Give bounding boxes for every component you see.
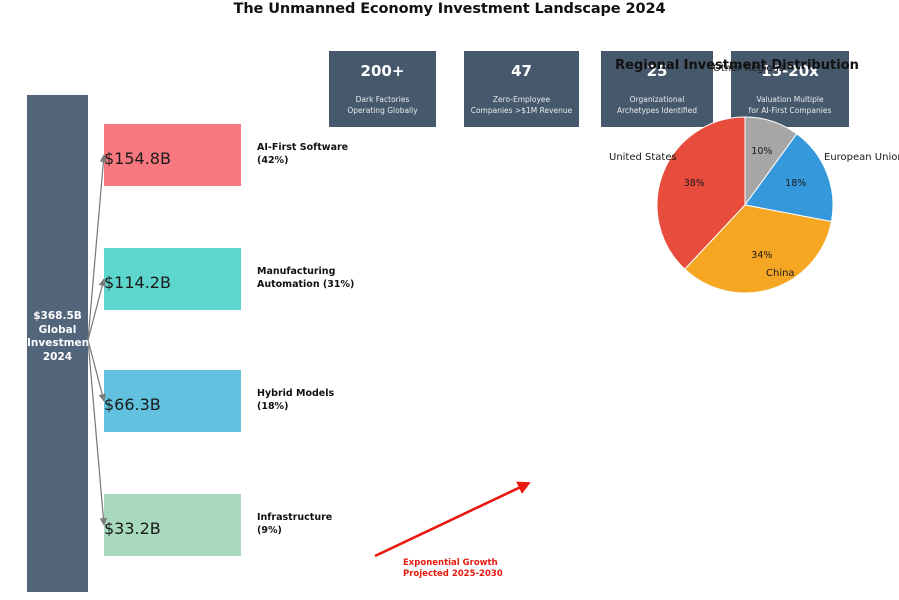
segment-percentage: (9%) <box>257 525 367 538</box>
segment-category-label: Infrastructure(9%) <box>257 512 367 537</box>
segment-value-label: $66.3B <box>104 395 161 414</box>
stat-card-caption: OrganizationalArchetypes Identified <box>601 95 713 116</box>
connector-arrow <box>88 340 104 525</box>
stat-card-caption-line-1: Dark Factories <box>329 95 436 106</box>
connector-arrow <box>88 279 104 340</box>
stat-card: 47Zero-EmployeeCompanies >$1M Revenue <box>464 51 579 127</box>
segment-percentage: (42%) <box>257 155 367 168</box>
stat-card-caption: Zero-EmployeeCompanies >$1M Revenue <box>464 95 579 116</box>
stat-card-caption: Valuation Multiplefor AI-First Companies <box>731 95 849 116</box>
growth-line-1: Exponential Growth <box>403 558 503 569</box>
segment-category-label: Hybrid Models(18%) <box>257 388 367 413</box>
segment-category-label: AI-First Software(42%) <box>257 142 367 167</box>
segment-category-name: Hybrid Models <box>257 388 367 401</box>
stat-card-caption: Dark FactoriesOperating Globally <box>329 95 436 116</box>
growth-arrow-line <box>375 484 527 556</box>
stat-card-caption-line-2: Companies >$1M Revenue <box>464 106 579 117</box>
stat-card: 200+Dark FactoriesOperating Globally <box>329 51 436 127</box>
segment-value-label: $114.2B <box>104 273 171 292</box>
total-value: $368.5B <box>27 310 88 324</box>
total-investment-label: $368.5B Global Investment 2024 <box>27 310 88 364</box>
stat-card-caption-line-1: Zero-Employee <box>464 95 579 106</box>
pie-svg <box>655 115 835 295</box>
segment-category-label: ManufacturingAutomation (31%) <box>257 266 367 291</box>
stat-card-number: 200+ <box>329 62 436 80</box>
stat-card-caption-line-2: Operating Globally <box>329 106 436 117</box>
growth-line-2: Projected 2025-2030 <box>403 569 503 580</box>
segment-value-label: $154.8B <box>104 149 171 168</box>
regional-pie-chart <box>655 115 835 295</box>
stat-card-caption-line-1: Valuation Multiple <box>731 95 849 106</box>
stat-card-number: 47 <box>464 62 579 80</box>
stat-card-caption-line-1: Organizational <box>601 95 713 106</box>
total-line3: Investment <box>27 337 88 351</box>
pie-category-label: European Union <box>824 152 899 163</box>
pie-category-label: China <box>766 268 795 279</box>
segment-percentage: (18%) <box>257 401 367 414</box>
pie-slice-percentage: 18% <box>776 178 816 189</box>
pie-slice-percentage: 10% <box>742 146 782 157</box>
growth-annotation: Exponential Growth Projected 2025-2030 <box>403 558 503 580</box>
total-line4: 2024 <box>27 351 88 365</box>
connector-arrow <box>88 155 104 340</box>
total-line2: Global <box>27 324 88 338</box>
segment-category-name: Infrastructure <box>257 512 367 525</box>
pie-category-label: United States <box>609 152 677 163</box>
segment-value-label: $33.2B <box>104 519 161 538</box>
pie-slice-percentage: 38% <box>674 178 714 189</box>
page-title: The Unmanned Economy Investment Landscap… <box>0 1 899 17</box>
pie-chart-title: Regional Investment Distribution <box>572 58 899 73</box>
segment-category-name: AI-First Software <box>257 142 367 155</box>
segment-category-name: Manufacturing <box>257 266 367 279</box>
pie-slice-percentage: 34% <box>742 250 782 261</box>
connector-arrow <box>88 340 104 401</box>
segment-percentage: Automation (31%) <box>257 279 367 292</box>
